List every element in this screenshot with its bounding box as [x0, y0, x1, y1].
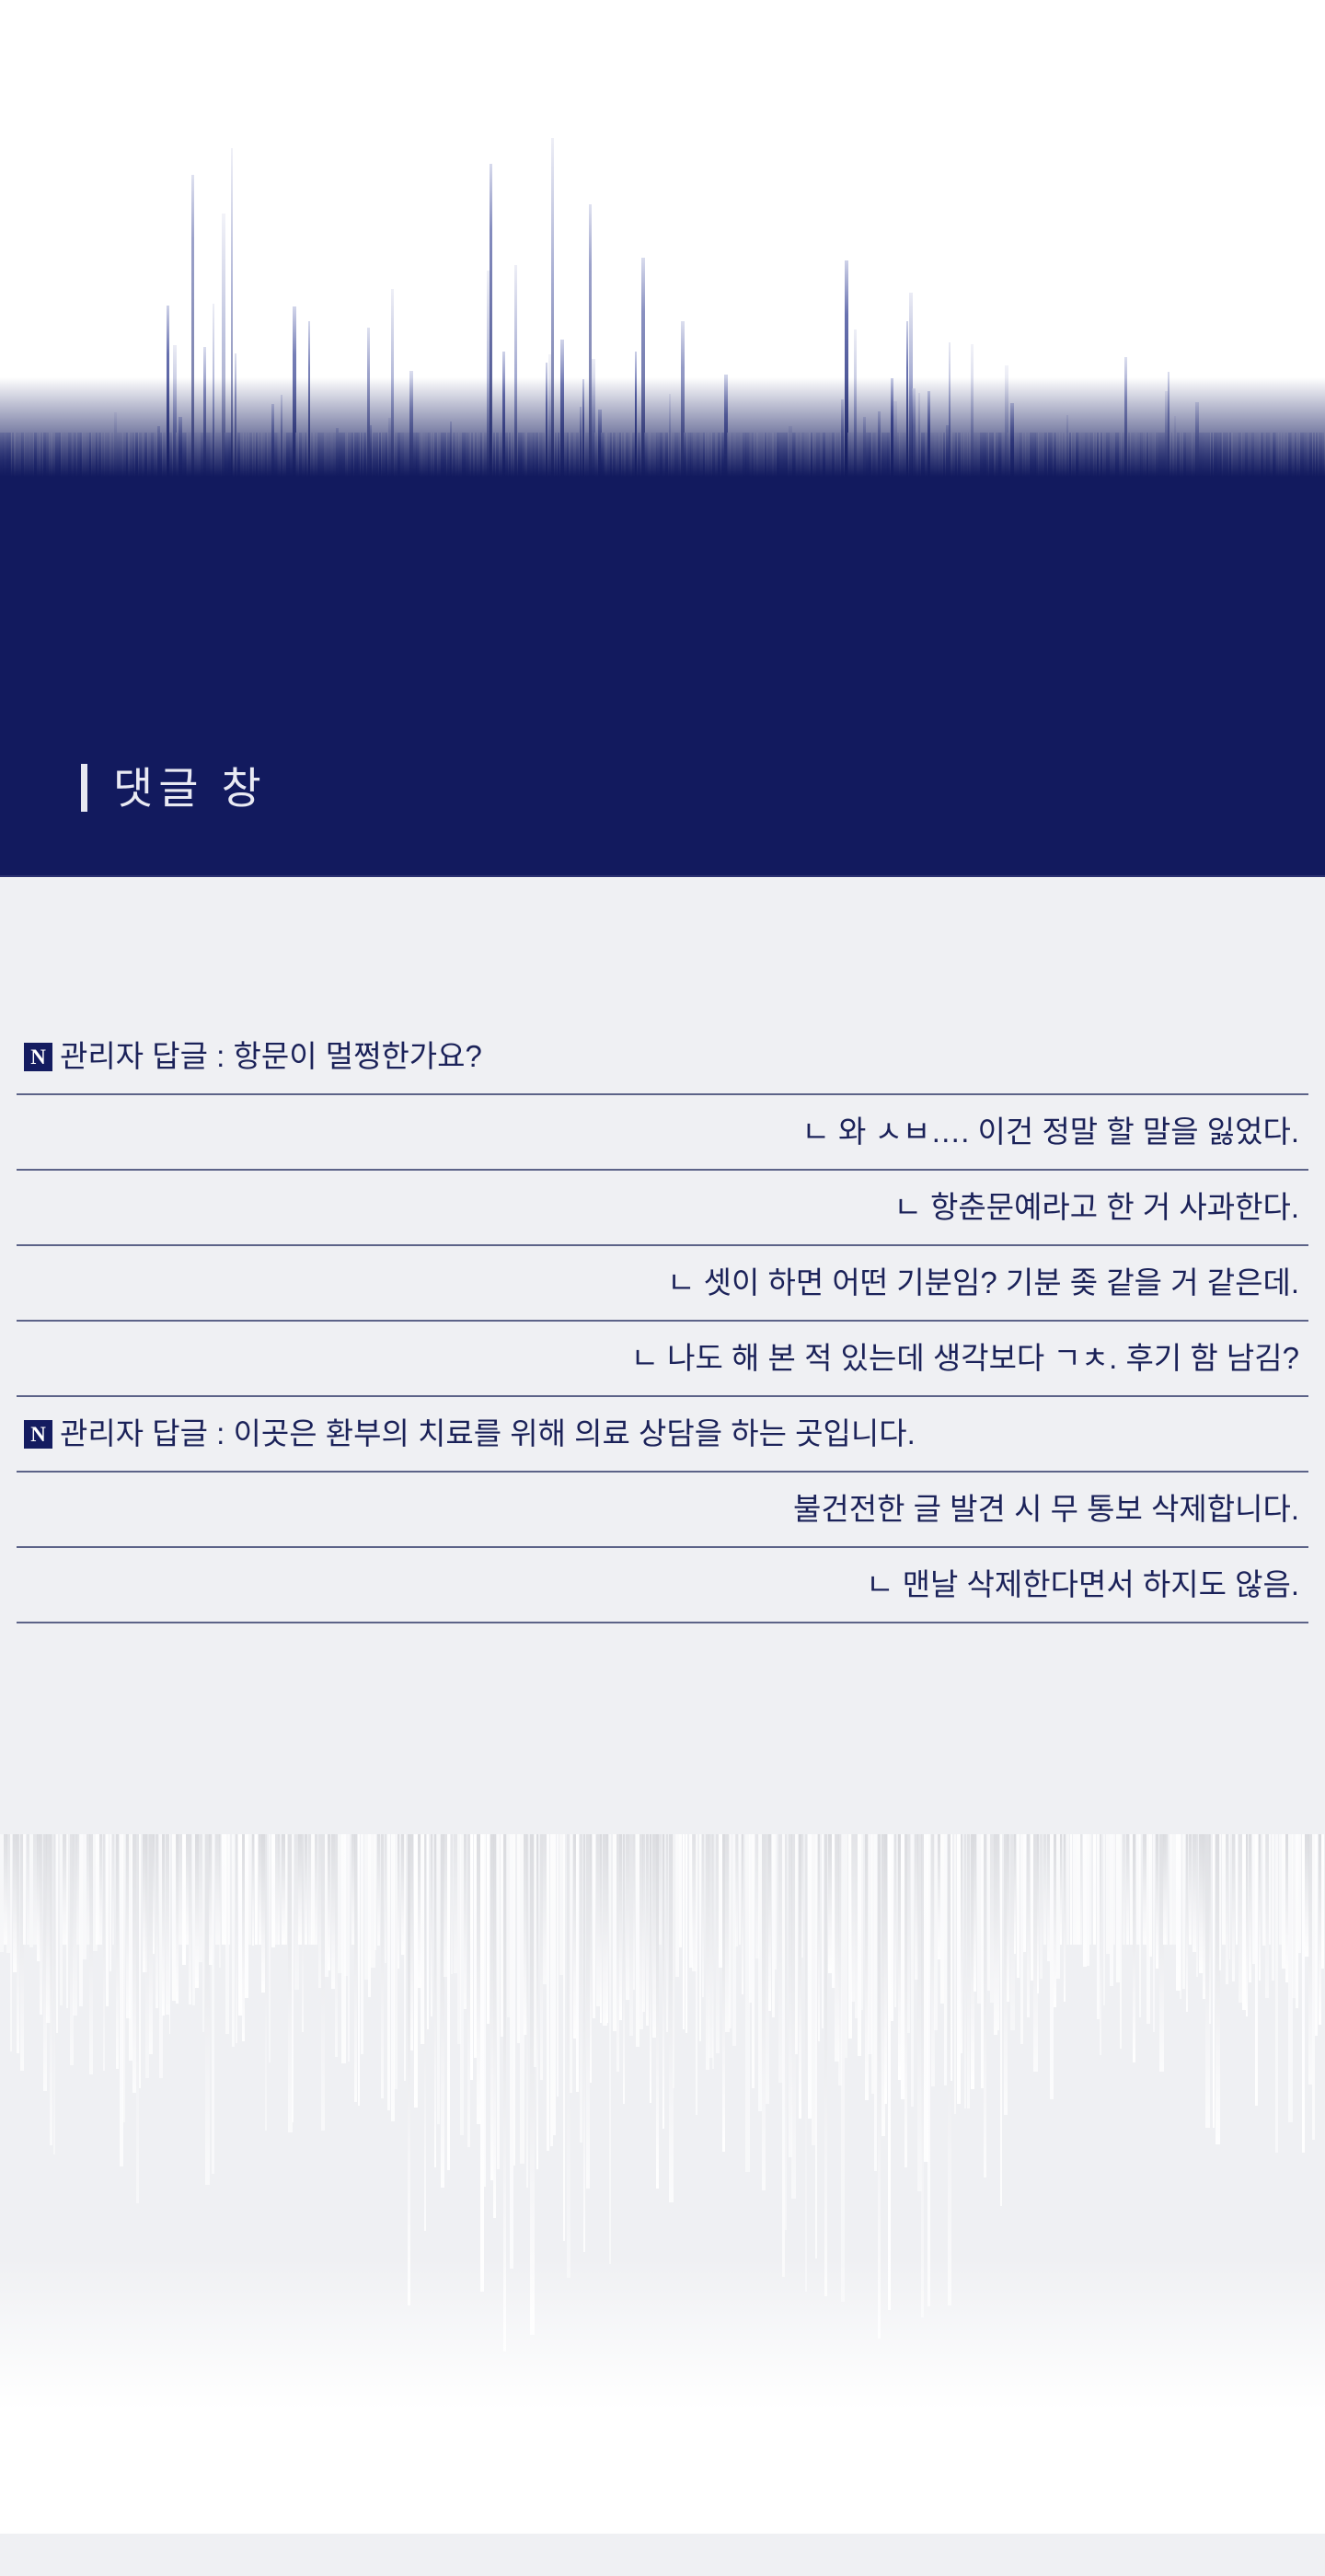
header-accent-bar-icon	[81, 764, 87, 812]
top-waveform-decoration	[0, 0, 1325, 709]
comment-row[interactable]: ㄴ 맨날 삭제한다면서 하지도 않음.	[17, 1548, 1308, 1623]
top-waveform-bars	[0, 0, 1325, 709]
comment-row[interactable]: N관리자 답글 : 이곳은 환부의 치료를 위해 의료 상담을 하는 곳입니다.	[17, 1397, 1308, 1473]
comment-row[interactable]: 불건전한 글 발견 시 무 통보 삭제합니다.	[17, 1473, 1308, 1548]
comment-text: ㄴ 항춘문예라고 한 거 사과한다.	[893, 1190, 1299, 1225]
comment-row-inner: 불건전한 글 발견 시 무 통보 삭제합니다.	[17, 1492, 1308, 1527]
bottom-waveform-bars	[0, 1834, 1325, 2534]
webtoon-comment-panel: 댓글 창 N관리자 답글 : 항문이 멀쩡한가요?ㄴ 와 ㅅㅂ…. 이건 정말 …	[0, 0, 1325, 2576]
comment-row-inner: ㄴ 맨날 삭제한다면서 하지도 않음.	[17, 1567, 1308, 1602]
comment-row-inner: ㄴ 셋이 하면 어떤 기분임? 기분 좆 같을 거 같은데.	[17, 1265, 1308, 1300]
comment-text: ㄴ 맨날 삭제한다면서 하지도 않음.	[866, 1567, 1299, 1602]
section-header-band: 댓글 창	[0, 707, 1325, 877]
page-title: 댓글 창	[113, 767, 267, 810]
naver-admin-badge-icon: N	[24, 1043, 52, 1071]
bottom-waveform-decoration	[0, 1834, 1325, 2534]
comment-row[interactable]: ㄴ 와 ㅅㅂ…. 이건 정말 할 말을 잃었다.	[17, 1095, 1308, 1171]
comment-text: ㄴ 와 ㅅㅂ…. 이건 정말 할 말을 잃었다.	[801, 1115, 1299, 1149]
comment-row-inner: N관리자 답글 : 항문이 멀쩡한가요?	[17, 1039, 1308, 1074]
comment-row-inner: ㄴ 나도 해 본 적 있는데 생각보다 ㄱㅊ. 후기 함 남김?	[17, 1341, 1308, 1376]
comment-list-area: N관리자 답글 : 항문이 멀쩡한가요?ㄴ 와 ㅅㅂ…. 이건 정말 할 말을 …	[0, 877, 1325, 2576]
comment-row-inner: N관리자 답글 : 이곳은 환부의 치료를 위해 의료 상담을 하는 곳입니다.	[17, 1416, 1308, 1451]
comment-text: ㄴ 나도 해 본 적 있는데 생각보다 ㄱㅊ. 후기 함 남김?	[631, 1341, 1299, 1376]
comment-row[interactable]: N관리자 답글 : 항문이 멀쩡한가요?	[17, 1020, 1308, 1095]
naver-admin-badge-icon: N	[24, 1420, 52, 1449]
comment-list: N관리자 답글 : 항문이 멀쩡한가요?ㄴ 와 ㅅㅂ…. 이건 정말 할 말을 …	[17, 1020, 1308, 1623]
comment-row[interactable]: ㄴ 나도 해 본 적 있는데 생각보다 ㄱㅊ. 후기 함 남김?	[17, 1322, 1308, 1397]
comment-text: 관리자 답글 : 항문이 멀쩡한가요?	[60, 1039, 482, 1074]
comment-text: ㄴ 셋이 하면 어떤 기분임? 기분 좆 같을 거 같은데.	[667, 1265, 1299, 1300]
section-header-inner: 댓글 창	[81, 764, 267, 812]
comment-text: 불건전한 글 발견 시 무 통보 삭제합니다.	[793, 1492, 1299, 1527]
comment-row[interactable]: ㄴ 셋이 하면 어떤 기분임? 기분 좆 같을 거 같은데.	[17, 1246, 1308, 1322]
comment-text: 관리자 답글 : 이곳은 환부의 치료를 위해 의료 상담을 하는 곳입니다.	[60, 1416, 916, 1451]
comment-row-inner: ㄴ 와 ㅅㅂ…. 이건 정말 할 말을 잃었다.	[17, 1115, 1308, 1149]
comment-row[interactable]: ㄴ 항춘문예라고 한 거 사과한다.	[17, 1171, 1308, 1246]
comment-row-inner: ㄴ 항춘문예라고 한 거 사과한다.	[17, 1190, 1308, 1225]
